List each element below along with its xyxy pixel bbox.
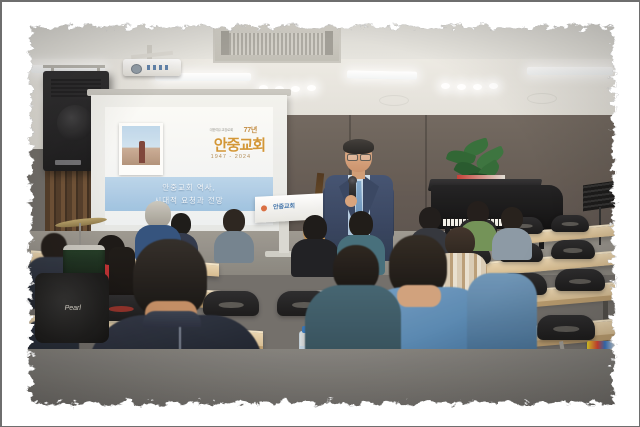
speaker-rail [43, 65, 105, 68]
lectern-stem [279, 219, 289, 253]
attendee-head [349, 211, 373, 237]
glasses-icon [347, 154, 358, 161]
attendee-head [419, 207, 441, 230]
ceiling-fixture-ring [527, 93, 557, 104]
strip-light [347, 70, 417, 79]
attendee-neck [397, 285, 441, 307]
empty-chair [537, 315, 595, 340]
attendee-head [223, 209, 245, 233]
slide-subtitle-band: 안중교회 역사, 시대적 요청과 전망 [105, 177, 273, 211]
empty-chair [555, 269, 605, 291]
chair-handle-slot [553, 326, 579, 332]
vent-slot [325, 31, 333, 55]
attendee-head [303, 215, 327, 241]
empty-chair [551, 215, 589, 232]
chair-handle-slot [562, 222, 579, 226]
slide-subtitle-line-1: 안중교회 역사, [162, 182, 216, 193]
lectern-logo-text: 안중교회 [273, 201, 295, 211]
ceiling-fixture-ring [379, 95, 409, 106]
chair-handle-slot [219, 302, 244, 308]
slide-photo-figure [139, 141, 145, 163]
speaker-badge [55, 160, 81, 165]
presenter-hair [343, 139, 374, 154]
attendee-head [501, 207, 523, 230]
spot-light [307, 85, 316, 91]
attendee-body [214, 231, 254, 263]
attendee-head [145, 201, 171, 228]
speaker-cone [57, 105, 93, 141]
photo-frame: 대한예수교장로회 77년 안중교회 1947 - 2024 안중교회 역사, 시… [0, 0, 640, 427]
photograph: 대한예수교장로회 77년 안중교회 1947 - 2024 안중교회 역사, 시… [27, 23, 615, 409]
slide-dates: 1947 - 2024 [211, 154, 251, 160]
vent-slot [221, 31, 229, 55]
spot-light [441, 83, 450, 89]
chair-handle-slot [569, 279, 591, 284]
chair [203, 291, 259, 316]
drum-rim [63, 245, 105, 250]
vent-grille [225, 33, 329, 55]
chair-handle-slot [109, 306, 134, 312]
attendee-body [492, 228, 532, 260]
empty-chair [551, 240, 595, 259]
slide-church-name: 안중교회 [214, 134, 265, 155]
glasses-icon [360, 154, 371, 161]
lectern-logo-mark [261, 205, 267, 211]
attendee-body [291, 239, 339, 277]
room-floor [27, 349, 615, 409]
presentation-slide: 대한예수교장로회 77년 안중교회 1947 - 2024 안중교회 역사, 시… [105, 107, 273, 225]
spot-light [473, 84, 482, 90]
chair-handle-slot [563, 248, 582, 252]
microphone-head [348, 176, 357, 185]
polo-collar [143, 311, 201, 327]
projector-vents [147, 65, 169, 70]
projector-icon [123, 59, 181, 76]
slide-denomination-line: 대한예수교장로회 [210, 127, 233, 132]
spot-light [489, 83, 498, 89]
drum-brand-logo: Pearl [65, 305, 81, 312]
presenter-hand [345, 195, 357, 207]
bass-drum: Pearl [35, 273, 109, 343]
spot-light [457, 84, 466, 90]
attendee-body [467, 273, 537, 353]
spot-light [291, 86, 300, 92]
projector-lens [131, 64, 142, 74]
air-conditioner-vent-icon [213, 23, 341, 63]
slide-photo-frame [119, 123, 163, 175]
strip-light [527, 67, 613, 75]
